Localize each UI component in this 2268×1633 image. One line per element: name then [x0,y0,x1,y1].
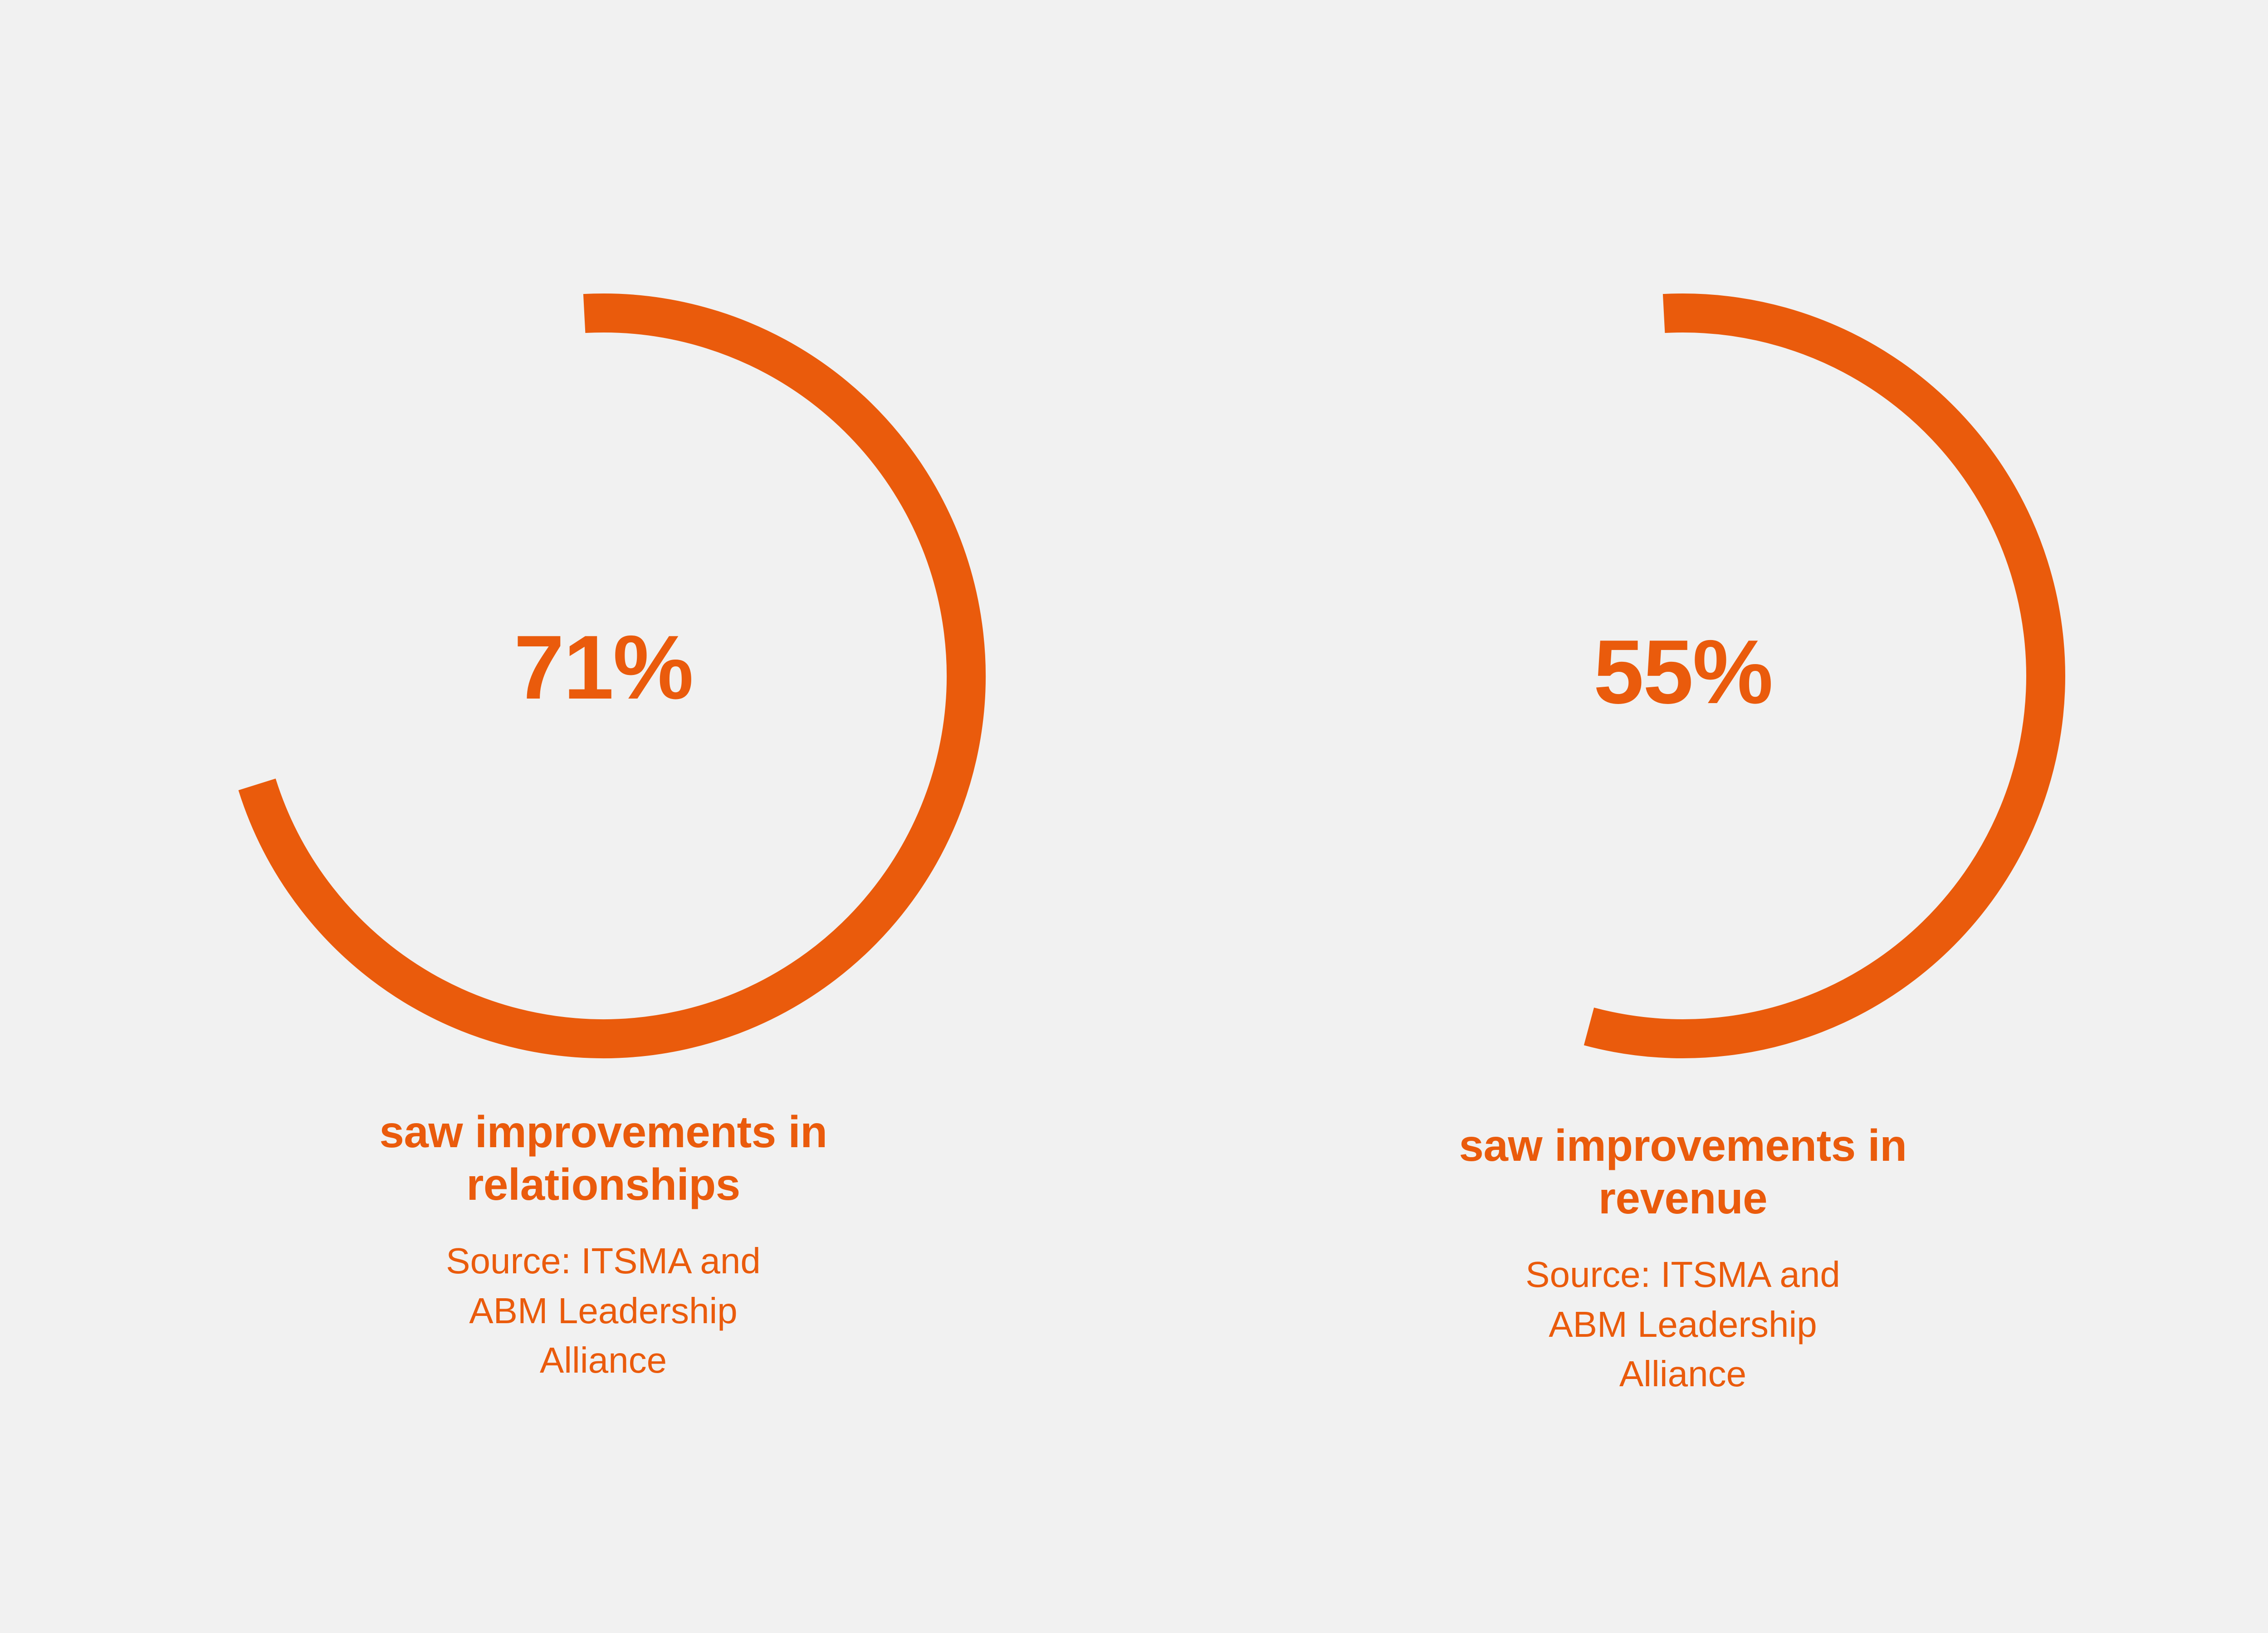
source-attribution-relationships: Source: ITSMA and ABM Leadership Allianc… [263,1236,943,1385]
stat-card-revenue: 55% saw improvements in revenue Source: … [1229,0,2136,1633]
source-line-3: Alliance [1343,1349,2023,1399]
source-line-1: Source: ITSMA and [263,1236,943,1286]
percent-value-relationships: 71% [150,622,1057,713]
caption-heading-relationships: saw improvements in relationships [263,1106,943,1211]
source-line-1: Source: ITSMA and [1343,1250,2023,1300]
infographic-canvas: 71% saw improvements in relationships So… [0,0,2268,1633]
percent-value-revenue: 55% [1229,627,2136,718]
stat-card-relationships: 71% saw improvements in relationships So… [150,0,1057,1633]
caption-line-1: saw improvements in [263,1106,943,1159]
caption-block-revenue: saw improvements in revenue Source: ITSM… [1343,1120,2023,1399]
source-line-2: ABM Leadership [1343,1300,2023,1349]
caption-heading-revenue: saw improvements in revenue [1343,1120,2023,1224]
source-line-3: Alliance [263,1335,943,1385]
source-line-2: ABM Leadership [263,1286,943,1336]
caption-line-1: saw improvements in [1343,1120,2023,1172]
caption-block-relationships: saw improvements in relationships Source… [263,1106,943,1385]
source-attribution-revenue: Source: ITSMA and ABM Leadership Allianc… [1343,1250,2023,1399]
caption-line-2: revenue [1343,1172,2023,1225]
caption-line-2: relationships [263,1159,943,1211]
